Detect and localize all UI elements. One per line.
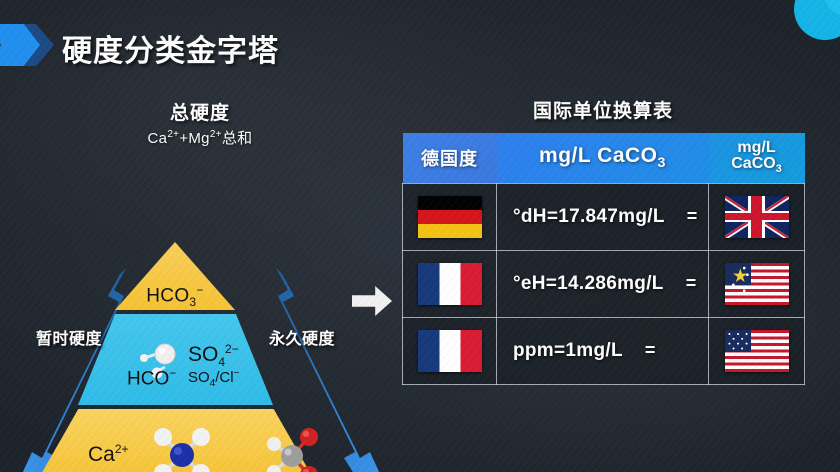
sulfate-chloride-label: SO42− SO4/Cl−	[188, 342, 274, 389]
hardness-pyramid-diagram: 总硬度 Ca2++Mg2+总和 HCO3−	[0, 90, 400, 472]
usa-china-hybrid-flag-cell	[709, 250, 805, 317]
column-header-german-degree: 德国度	[403, 133, 497, 183]
usa-flag	[725, 330, 789, 372]
equation-cell: ppm=1mg/L=	[497, 317, 709, 384]
equals-sign: =	[645, 340, 656, 360]
uk-flag	[725, 196, 789, 238]
france-flag	[418, 330, 482, 372]
slide-canvas: 硬度分类金字塔 总硬度 Ca2++Mg2+总和	[0, 0, 840, 472]
page-title: 硬度分类金字塔	[62, 26, 279, 70]
table-header-row: 德国度 mg/L CaCO3 mg/L CaCO3	[403, 133, 805, 183]
carbonate-molecule-icon	[262, 424, 324, 472]
france-flag-cell	[403, 250, 497, 317]
column-header-mgl-caco3: mg/L CaCO3	[497, 133, 709, 183]
equation-text: °dH=17.847mg/L	[513, 206, 665, 227]
germany-flag-cell	[403, 183, 497, 250]
equation-text: ppm=1mg/L	[513, 340, 623, 361]
table-row: °eH=14.286mg/L=	[403, 250, 805, 317]
slide-header: 硬度分类金字塔	[0, 10, 840, 72]
total-hardness-label: 总硬度	[0, 98, 400, 125]
france-flag	[418, 263, 482, 305]
equation-cell: °dH=17.847mg/L=	[497, 183, 709, 250]
germany-flag	[418, 196, 482, 238]
france-flag-cell	[403, 317, 497, 384]
permanent-hardness-label: 永久硬度	[269, 325, 335, 349]
usa-china-hybrid-flag	[725, 263, 789, 305]
usa-flag-cell	[709, 317, 805, 384]
calcium-ion-label: Ca2+	[88, 442, 129, 467]
methane-molecule-icon	[148, 424, 216, 472]
conversion-table-section: 国际单位换算表 德国度 mg/L CaCO3 mg/L CaCO3	[402, 96, 804, 385]
pyramid-top-annotation: 总硬度 Ca2++Mg2+总和	[0, 98, 400, 148]
equation-text: °eH=14.286mg/L	[513, 273, 664, 294]
table-title: 国际单位换算表	[402, 96, 804, 123]
bicarbonate-label: HCO−	[127, 366, 176, 390]
table-row: °dH=17.847mg/L=	[403, 183, 805, 250]
unit-conversion-table: 德国度 mg/L CaCO3 mg/L CaCO3 °dH=17.847mg/L…	[402, 133, 805, 385]
equals-sign: =	[686, 273, 697, 293]
temporary-hardness-label: 暂时硬度	[36, 325, 102, 349]
apex-formula-label: HCO3−	[115, 283, 235, 309]
table-row: ppm=1mg/L=	[403, 317, 805, 384]
uk-flag-cell	[709, 183, 805, 250]
column-header-mgl-caco3-stacked: mg/L CaCO3	[709, 133, 805, 183]
total-hardness-formula: Ca2++Mg2+总和	[0, 127, 400, 148]
equation-cell: °eH=14.286mg/L=	[497, 250, 709, 317]
equals-sign: =	[687, 206, 698, 226]
